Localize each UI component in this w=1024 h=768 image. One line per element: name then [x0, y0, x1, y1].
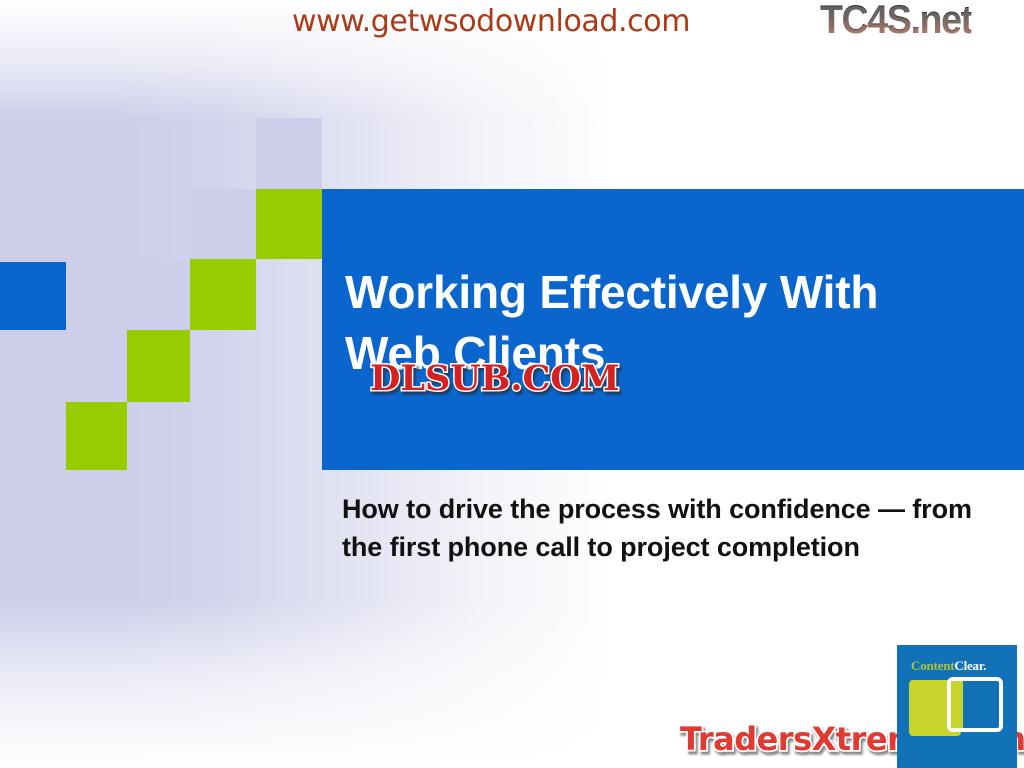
decorative-block-lime-row3 — [190, 259, 256, 330]
decorative-block-lime-row5 — [66, 402, 127, 470]
logo-word-content: Content — [911, 658, 954, 673]
decorative-block-blue-left — [0, 262, 66, 330]
watermark-tc4s: TC4S.net — [820, 0, 972, 43]
background-fade-bottom — [0, 600, 640, 768]
logo-mark-frame-lime-stripe — [951, 681, 963, 728]
decorative-block-lavender-top — [256, 118, 322, 189]
decorative-block-lavender-row4 — [66, 330, 127, 402]
decorative-block-lime-row2 — [256, 189, 322, 259]
watermark-dlsub: DLSUB.COM — [370, 358, 620, 399]
contentclear-logo-wordmark: ContentClear. — [911, 658, 986, 674]
presentation-slide: Working Effectively With Web Clients How… — [0, 0, 1024, 768]
watermark-getwsodownload: www.getwsodownload.com — [292, 4, 690, 39]
page-subtitle: How to drive the process with confidence… — [342, 490, 972, 567]
decorative-block-lavender-row2 — [190, 189, 256, 259]
contentclear-logo: ContentClear. — [897, 645, 1017, 768]
decorative-block-lime-row4 — [127, 330, 190, 402]
decorative-block-lavender-row3 — [127, 259, 190, 330]
logo-mark-outlined-rectangle — [947, 677, 1003, 732]
logo-word-clear: Clear. — [954, 658, 986, 673]
